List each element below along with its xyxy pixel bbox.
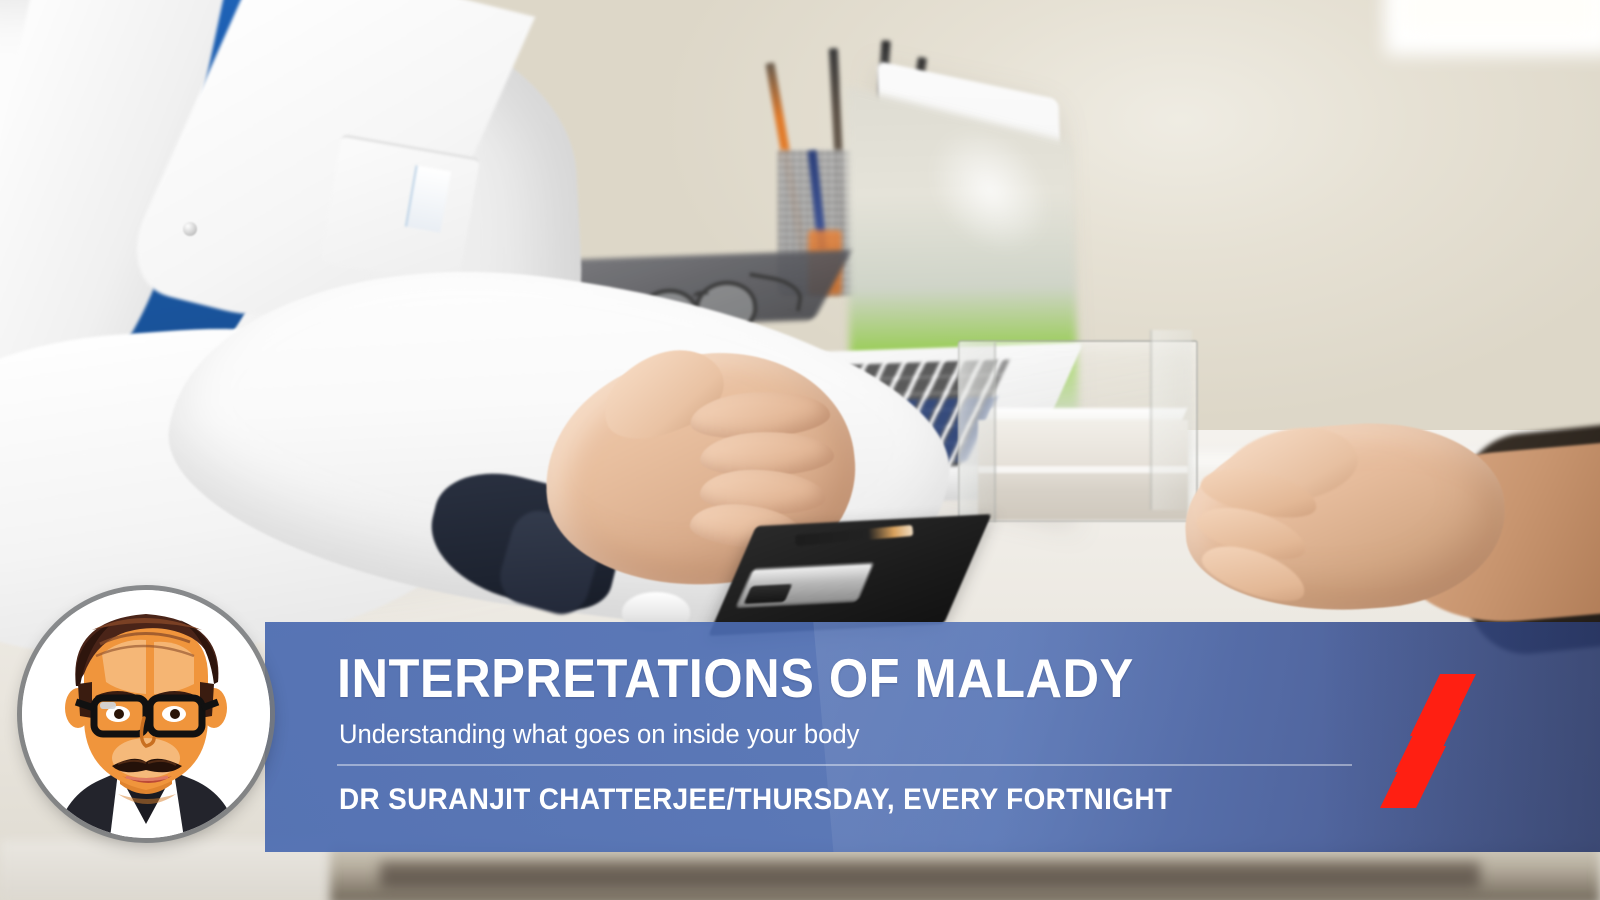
indian-express-logo [1380,670,1510,810]
note-box-left-wall [958,342,996,522]
glass-panel [1150,330,1192,510]
screenshot-root: INTERPRETATIONS OF MALADY Understanding … [0,0,1600,900]
lab-coat-button-1 [183,222,197,236]
avatar [22,590,270,870]
avatar-ring [22,590,270,838]
column-byline: DR SURANJIT CHATTERJEE/THURSDAY, EVERY F… [339,782,1172,818]
banner-text-block: INTERPRETATIONS OF MALADY Understanding … [337,622,1367,852]
column-subtitle: Understanding what goes on inside your b… [339,718,859,750]
window-glow [1400,0,1600,30]
lab-coat-pocket [320,134,480,286]
banner-divider [337,764,1352,766]
column-banner: INTERPRETATIONS OF MALADY Understanding … [265,622,1600,852]
column-title: INTERPRETATIONS OF MALADY [337,648,1134,708]
avatar-illustration [22,590,270,838]
desk-lower-band-dark [380,862,1480,888]
